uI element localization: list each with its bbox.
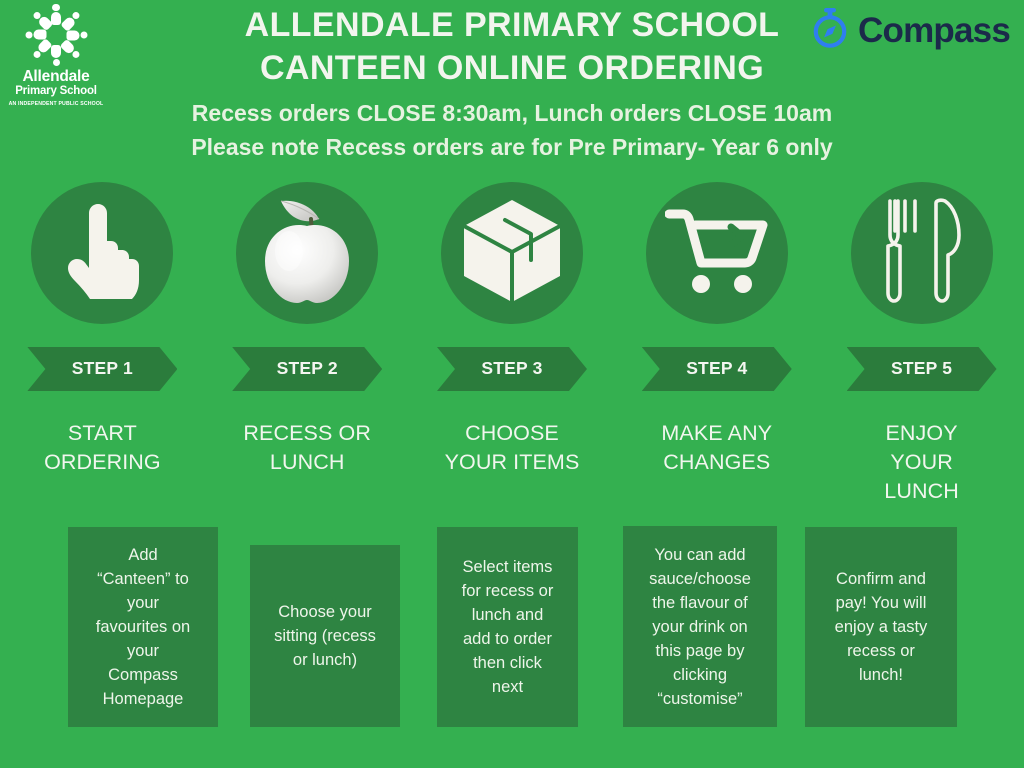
step-4-description-text: You can add sauce/choose the flavour of … — [649, 543, 751, 711]
apple-icon — [251, 191, 363, 316]
step-3-description-text: Select items for recess or lunch and add… — [462, 555, 554, 699]
shopping-cart-arrow-icon — [665, 205, 769, 302]
step-column-5: STEP 5 ENJOY YOUR LUNCH — [819, 182, 1024, 506]
step-5-badge: STEP 5 — [847, 347, 997, 391]
step-3-badge-label: STEP 3 — [481, 360, 542, 378]
step-4-badge: STEP 4 — [642, 347, 792, 391]
step-column-4: STEP 4 MAKE ANY CHANGES — [614, 182, 819, 506]
poster-canvas: Allendale Primary School AN INDEPENDENT … — [0, 0, 1024, 768]
step-3-description-card: Select items for recess or lunch and add… — [437, 527, 578, 727]
step-5-title: ENJOY YOUR LUNCH — [884, 419, 959, 506]
step-4-badge-label: STEP 4 — [686, 360, 747, 378]
steps-row: STEP 1 START ORDERING — [0, 182, 1024, 506]
page-subtitle-line-2: Please note Recess orders are for Pre Pr… — [0, 130, 1024, 164]
step-3-title: CHOOSE YOUR ITEMS — [445, 419, 580, 477]
step-column-1: STEP 1 START ORDERING — [0, 182, 205, 506]
step-2-badge-label: STEP 2 — [277, 360, 338, 378]
page-title-line-2: CANTEEN ONLINE ORDERING — [0, 47, 1024, 90]
step-1-badge: STEP 1 — [27, 347, 177, 391]
step-5-icon-circle — [851, 182, 993, 324]
step-column-3: STEP 3 CHOOSE YOUR ITEMS — [410, 182, 615, 506]
box-package-icon — [461, 198, 563, 309]
step-5-description-card: Confirm and pay! You will enjoy a tasty … — [805, 527, 957, 727]
step-5-description-text: Confirm and pay! You will enjoy a tasty … — [835, 567, 928, 687]
fork-and-knife-icon — [879, 197, 965, 310]
step-2-icon-circle — [236, 182, 378, 324]
step-1-title: START ORDERING — [44, 419, 161, 477]
step-2-badge: STEP 2 — [232, 347, 382, 391]
step-2-description-card: Choose your sitting (recess or lunch) — [250, 545, 400, 727]
step-2-title: RECESS OR LUNCH — [243, 419, 371, 477]
step-4-title: MAKE ANY CHANGES — [661, 419, 772, 477]
step-4-icon-circle — [646, 182, 788, 324]
step-5-badge-label: STEP 5 — [891, 360, 952, 378]
page-title-line-1: ALLENDALE PRIMARY SCHOOL — [0, 4, 1024, 47]
step-4-description-card: You can add sauce/choose the flavour of … — [623, 526, 777, 727]
step-1-description-card: Add “Canteen” to your favourites on your… — [68, 527, 218, 727]
step-3-icon-circle — [441, 182, 583, 324]
page-subtitle-line-1: Recess orders CLOSE 8:30am, Lunch orders… — [0, 96, 1024, 130]
step-column-2: STEP 2 RECESS OR LUNCH — [205, 182, 410, 506]
step-1-icon-circle — [31, 182, 173, 324]
step-3-badge: STEP 3 — [437, 347, 587, 391]
header-block: ALLENDALE PRIMARY SCHOOL CANTEEN ONLINE … — [0, 4, 1024, 164]
step-1-badge-label: STEP 1 — [72, 360, 133, 378]
step-2-description-text: Choose your sitting (recess or lunch) — [274, 600, 376, 672]
step-1-description-text: Add “Canteen” to your favourites on your… — [96, 543, 190, 711]
pointing-hand-icon — [62, 203, 142, 304]
